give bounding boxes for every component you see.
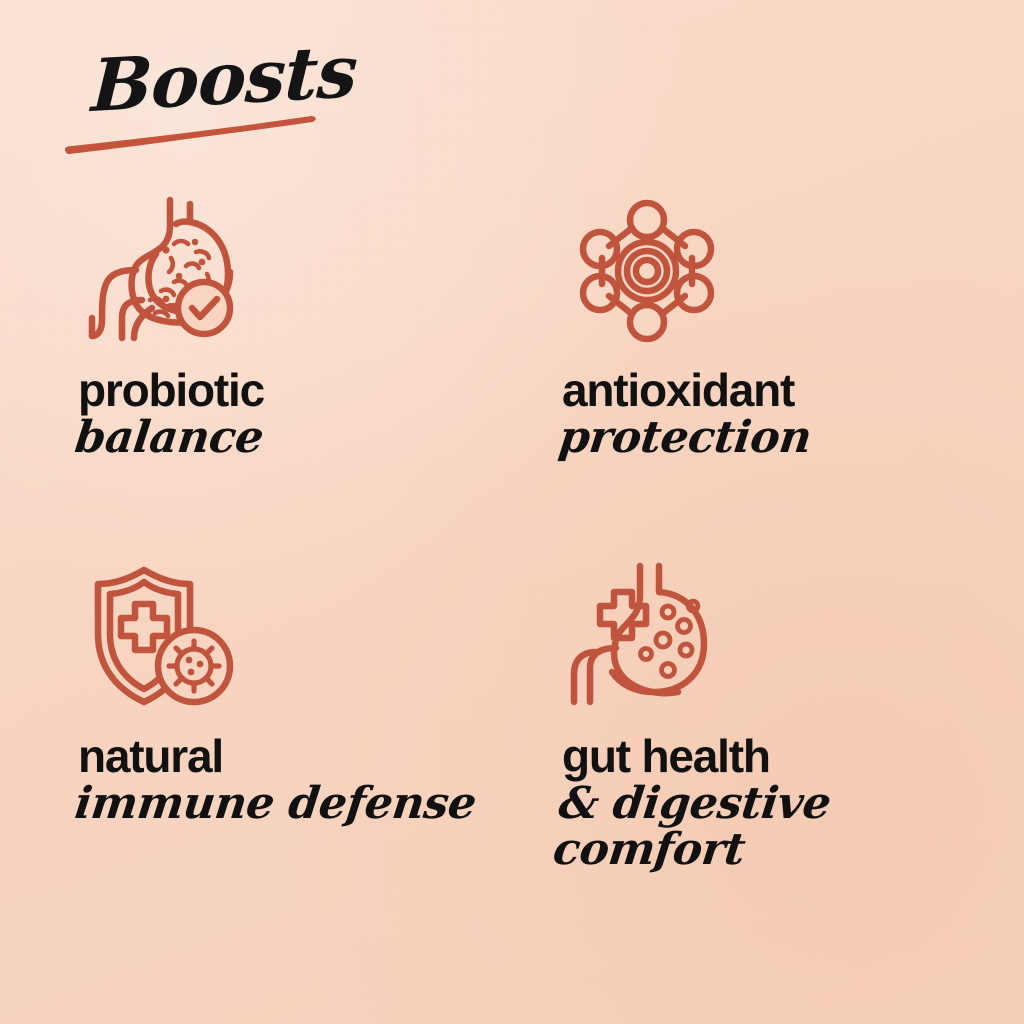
boosts-infographic: Boosts	[0, 0, 1024, 1024]
benefit-subtitle: balance	[72, 415, 548, 461]
benefit-labels: antioxidant protection	[562, 368, 1024, 461]
benefit-subtitle: protection	[556, 415, 1024, 461]
benefit-card-antioxidant: antioxidant protection	[562, 196, 1024, 461]
benefit-subtitle: immune defense	[72, 781, 548, 827]
shield-cross-virus-icon	[78, 562, 248, 712]
benefit-card-gut-health: gut health & digestive comfort	[562, 562, 1024, 873]
benefit-labels: probiotic balance	[78, 368, 548, 461]
stomach-probiotic-check-icon	[78, 196, 248, 346]
benefit-title: probiotic	[78, 368, 548, 413]
benefit-title: natural	[78, 734, 548, 779]
benefit-card-immune: natural immune defense	[78, 562, 548, 827]
benefit-title: antioxidant	[562, 368, 1024, 413]
page-title-block: Boosts	[62, 44, 482, 164]
benefit-card-probiotic: probiotic balance	[78, 196, 548, 461]
stomach-cross-digestive-icon	[562, 562, 732, 712]
page-title: Boosts	[90, 35, 358, 122]
antioxidant-molecule-icon	[562, 196, 732, 346]
benefits-grid: probiotic balance	[0, 196, 1024, 996]
benefit-labels: natural immune defense	[78, 734, 548, 827]
benefit-title: gut health	[562, 734, 1024, 779]
benefit-subtitle: & digestive comfort	[551, 781, 1024, 873]
benefit-labels: gut health & digestive comfort	[562, 734, 1024, 873]
